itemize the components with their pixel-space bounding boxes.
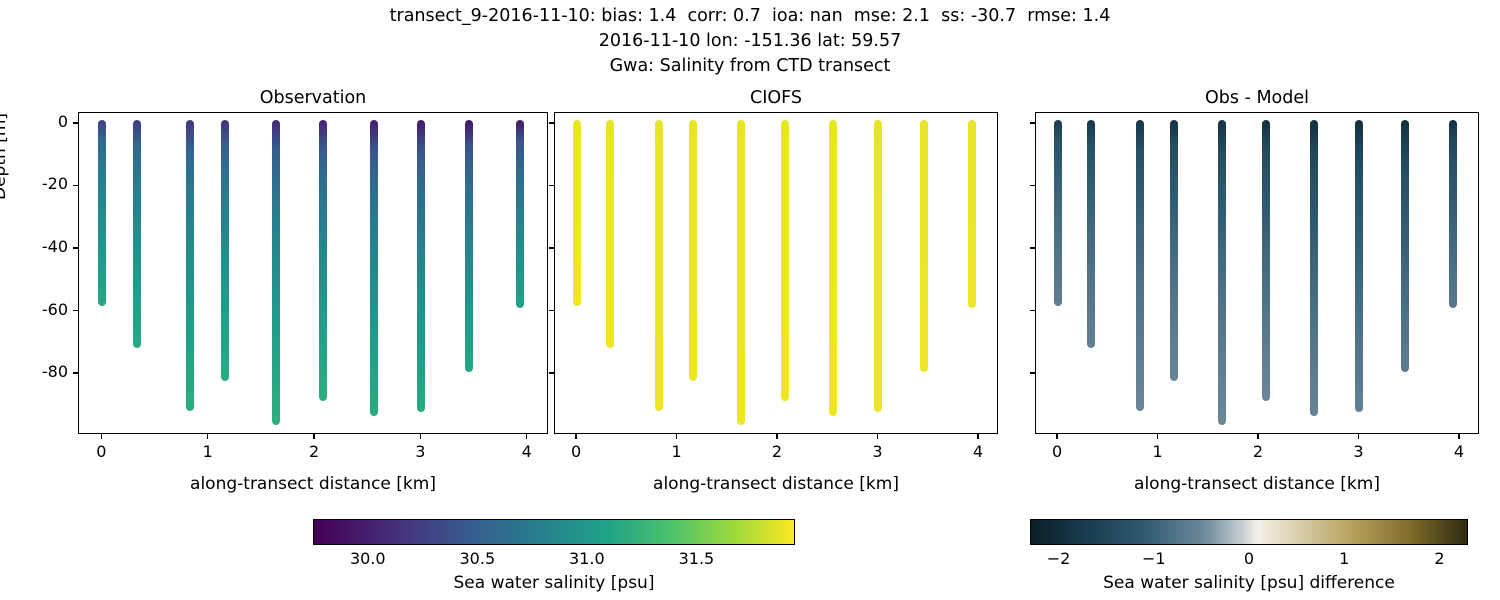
cast-profile — [319, 120, 327, 402]
x-tick-label: 1 — [657, 442, 697, 461]
colorbar-tick-label: 30.5 — [447, 549, 507, 568]
panel-title-obs-model: Obs - Model — [1035, 88, 1479, 108]
x-tick-label: 0 — [1037, 442, 1077, 461]
colorbar-salinity-difference — [1030, 519, 1468, 545]
x-tick — [420, 434, 421, 439]
cast-profile — [1401, 120, 1409, 372]
x-tick-label: 0 — [81, 442, 121, 461]
x-tick-label: 3 — [857, 442, 897, 461]
x-tick-label: 3 — [1338, 442, 1378, 461]
cast-profile — [516, 120, 524, 308]
cast-profile — [1087, 120, 1095, 348]
x-tick — [313, 434, 314, 439]
x-tick-label: 3 — [400, 442, 440, 461]
x-tick-label: 1 — [188, 442, 228, 461]
cast-profile — [1355, 120, 1363, 412]
colorbar-tick-label: −1 — [1124, 549, 1184, 568]
cast-profile — [221, 120, 229, 381]
colorbar-tick-label: 1 — [1314, 549, 1374, 568]
colorbar-tick-label: 0 — [1219, 549, 1279, 568]
cast-profile — [370, 120, 378, 416]
y-tick — [549, 310, 554, 311]
y-tick — [1030, 185, 1035, 186]
y-tick-label: -40 — [8, 237, 68, 256]
colorbar-tick-label: 30.0 — [338, 549, 398, 568]
cast-profile — [465, 120, 473, 372]
y-tick — [549, 185, 554, 186]
cast-profile — [606, 120, 614, 348]
cast-profile — [1262, 120, 1270, 402]
x-tick — [1056, 434, 1057, 439]
cast-profile — [98, 120, 106, 306]
cast-profile — [1054, 120, 1062, 306]
cast-profile — [968, 120, 976, 308]
cast-profile — [737, 120, 745, 425]
panel-obs-model — [1035, 112, 1479, 434]
suptitle-dataset-line: Gwa: Salinity from CTD transect — [0, 56, 1500, 76]
y-tick — [549, 247, 554, 248]
cast-profile — [655, 120, 663, 411]
panel-title-observation: Observation — [78, 88, 548, 108]
cast-profile — [1136, 120, 1144, 411]
cast-profile — [874, 120, 882, 412]
x-axis-label: along-transect distance [km] — [554, 474, 998, 494]
x-tick — [526, 434, 527, 439]
x-tick — [877, 434, 878, 439]
colorbar-tick-label: 31.5 — [666, 549, 726, 568]
cast-profile — [781, 120, 789, 402]
x-tick — [207, 434, 208, 439]
cast-profile — [573, 120, 581, 306]
x-tick-label: 4 — [507, 442, 547, 461]
x-axis-label: along-transect distance [km] — [78, 474, 548, 494]
y-tick — [1030, 310, 1035, 311]
colorbar-tick-label: −2 — [1029, 549, 1089, 568]
y-tick — [1030, 247, 1035, 248]
colorbar-label-salinity: Sea water salinity [psu] — [313, 573, 795, 593]
cast-profile — [1449, 120, 1457, 308]
x-axis-label: along-transect distance [km] — [1035, 474, 1479, 494]
cast-profile — [1310, 120, 1318, 416]
x-tick-label: 4 — [1439, 442, 1479, 461]
cast-profile — [186, 120, 194, 411]
x-tick-label: 1 — [1138, 442, 1178, 461]
y-tick — [73, 122, 78, 123]
y-tick-label: -20 — [8, 174, 68, 193]
cast-profile — [1218, 120, 1226, 425]
cast-profile — [829, 120, 837, 416]
figure-canvas: transect_9-2016-11-10: bias: 1.4 corr: 0… — [0, 0, 1500, 600]
cast-profile — [920, 120, 928, 372]
y-tick-label: -80 — [8, 362, 68, 381]
x-tick-label: 4 — [958, 442, 998, 461]
y-tick — [1030, 372, 1035, 373]
y-tick — [549, 122, 554, 123]
y-tick — [549, 372, 554, 373]
colorbar-label-salinity-difference: Sea water salinity [psu] difference — [1030, 573, 1468, 593]
cast-profile — [417, 120, 425, 412]
cast-profile — [1170, 120, 1178, 381]
panel-observation — [78, 112, 548, 434]
colorbar-tick-label: 31.0 — [557, 549, 617, 568]
x-tick — [776, 434, 777, 439]
x-tick — [575, 434, 576, 439]
y-tick — [73, 185, 78, 186]
y-tick — [73, 247, 78, 248]
colorbar-salinity — [313, 519, 795, 545]
cast-profile — [689, 120, 697, 381]
y-tick-label: 0 — [8, 112, 68, 131]
x-tick-label: 2 — [757, 442, 797, 461]
x-tick — [1157, 434, 1158, 439]
cast-profile — [133, 120, 141, 348]
y-tick — [1030, 122, 1035, 123]
suptitle-stats-line: transect_9-2016-11-10: bias: 1.4 corr: 0… — [0, 6, 1500, 26]
x-tick — [101, 434, 102, 439]
x-tick-label: 2 — [294, 442, 334, 461]
panel-title-ciofs: CIOFS — [554, 88, 998, 108]
cast-profile — [272, 120, 280, 425]
x-tick — [1358, 434, 1359, 439]
x-tick — [1257, 434, 1258, 439]
x-tick — [676, 434, 677, 439]
x-tick — [1458, 434, 1459, 439]
x-tick-label: 2 — [1238, 442, 1278, 461]
x-tick-label: 0 — [556, 442, 596, 461]
x-tick — [977, 434, 978, 439]
suptitle-location-line: 2016-11-10 lon: -151.36 lat: 59.57 — [0, 31, 1500, 51]
panel-ciofs — [554, 112, 998, 434]
y-tick — [73, 310, 78, 311]
colorbar-tick-label: 2 — [1409, 549, 1469, 568]
y-tick-label: -60 — [8, 300, 68, 319]
y-tick — [73, 372, 78, 373]
